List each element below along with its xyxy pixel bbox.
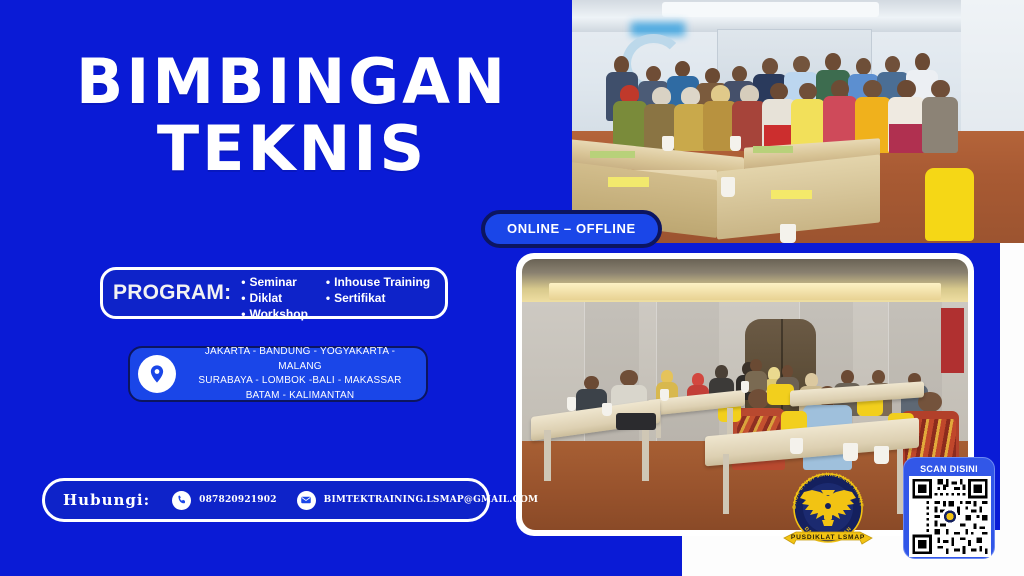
program-item: •Inhouse Training — [326, 275, 430, 290]
title-line-2: TEKNIS — [52, 119, 532, 180]
locations-text: JAKARTA - BANDUNG - YOGYAKARTA - MALANG … — [182, 345, 418, 403]
program-column-2: •Inhouse Training •Sertifikat — [326, 275, 430, 322]
bullet-icon: • — [241, 307, 245, 321]
locations-line-2: SURABAYA - LOMBOK -BALI - MAKASSAR — [182, 374, 418, 389]
locations-line-3: BATAM - KALIMANTAN — [182, 389, 418, 404]
photo-group-training-room — [572, 0, 1024, 243]
program-item: •Sertifikat — [326, 291, 430, 306]
map-pin-icon — [138, 355, 176, 393]
qr-code-image — [909, 476, 991, 557]
program-item: •Workshop — [241, 307, 308, 322]
program-item-label: Inhouse Training — [334, 275, 430, 289]
program-column-1: •Seminar •Diklat •Workshop — [241, 275, 308, 322]
badge-online-offline[interactable]: ONLINE – OFFLINE — [481, 210, 662, 248]
bullet-icon: • — [326, 291, 330, 305]
phone-icon — [172, 491, 191, 510]
program-item-label: Sertifikat — [334, 291, 385, 305]
program-columns: •Seminar •Diklat •Workshop •Inhouse Trai… — [241, 275, 430, 322]
program-item-label: Workshop — [249, 307, 307, 321]
lsmap-emblem-logo: LEMBAGA STUDI MANAJEMEN AKUNTANSI DAN PE… — [776, 466, 880, 558]
page-title: BIMBINGAN TEKNIS — [52, 52, 532, 180]
title-line-1: BIMBINGAN — [52, 52, 532, 113]
program-box: PROGRAM: •Seminar •Diklat •Workshop •Inh… — [100, 267, 448, 319]
program-item: •Seminar — [241, 275, 308, 290]
locations-box: JAKARTA - BANDUNG - YOGYAKARTA - MALANG … — [128, 346, 428, 402]
poster-root: ONLINE – OFFLINE — [0, 0, 1024, 576]
contact-email[interactable]: BIMTEKTRAINING.LSMAP@GMAIL.COM — [297, 491, 539, 510]
contact-label: Hubungi: — [63, 491, 150, 509]
svg-text:PUSDIKLAT LSMAP: PUSDIKLAT LSMAP — [791, 534, 865, 541]
envelope-icon — [297, 491, 316, 510]
bullet-icon: • — [241, 275, 245, 289]
bullet-icon: • — [326, 275, 330, 289]
contact-phone-number: 087820921902 — [199, 495, 277, 505]
locations-line-1: JAKARTA - BANDUNG - YOGYAKARTA - MALANG — [182, 345, 418, 374]
program-label: PROGRAM: — [113, 281, 231, 305]
program-item-label: Seminar — [249, 275, 296, 289]
contact-bar: Hubungi: 087820921902 BIMTEKTRAINING.LSM… — [42, 478, 490, 522]
program-item-label: Diklat — [249, 291, 282, 305]
contact-phone[interactable]: 087820921902 — [172, 491, 277, 510]
contact-email-address: BIMTEKTRAINING.LSMAP@GMAIL.COM — [324, 495, 539, 505]
photo-classroom-seminar — [522, 259, 968, 530]
qr-scan-card[interactable]: SCAN DISINI — [903, 457, 995, 559]
program-item: •Diklat — [241, 291, 308, 306]
bullet-icon: • — [241, 291, 245, 305]
qr-label: SCAN DISINI — [909, 462, 989, 476]
